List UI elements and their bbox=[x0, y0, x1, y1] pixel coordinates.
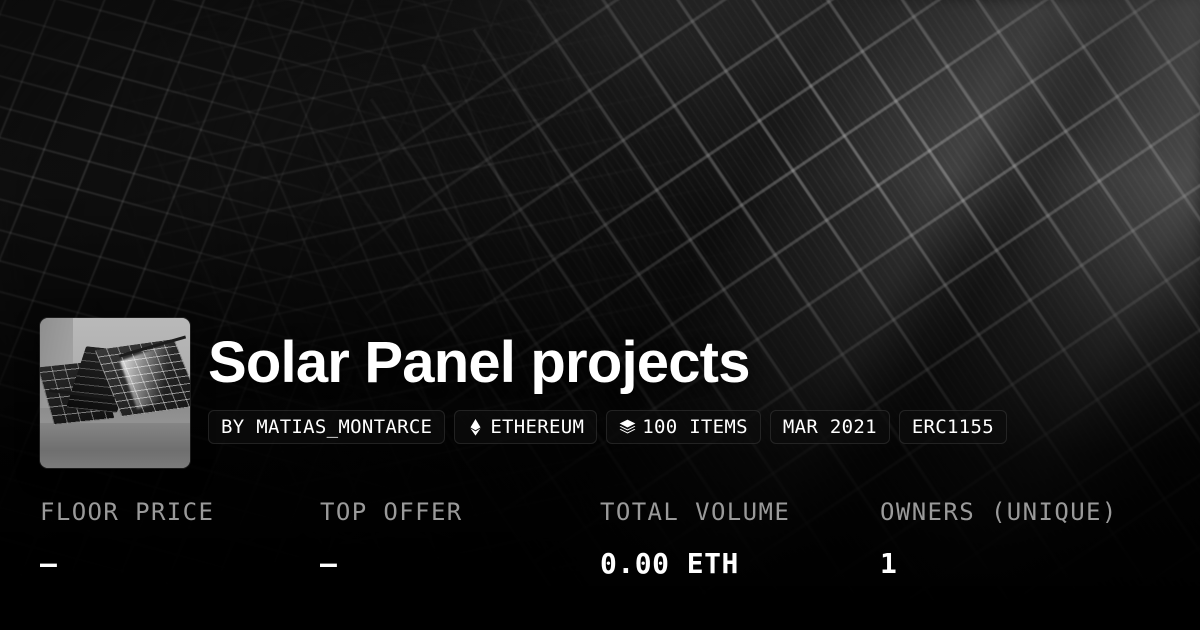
stat-floor-price-value: – bbox=[40, 550, 320, 578]
stat-top-offer-label: TOP OFFER bbox=[320, 500, 600, 524]
created-date-badge-label: MAR 2021 bbox=[783, 418, 877, 437]
stat-top-offer-value: – bbox=[320, 550, 600, 578]
stat-owners-unique-value: 1 bbox=[880, 550, 1160, 578]
collection-badges: BY MATIAS_MONTARCE ETHEREUM bbox=[208, 410, 1007, 444]
items-badge-label: 100 ITEMS bbox=[642, 418, 748, 437]
card-content: Solar Panel projects BY MATIAS_MONTARCE … bbox=[0, 0, 1200, 630]
stat-top-offer: TOP OFFER – bbox=[320, 500, 600, 578]
token-standard-badge-label: ERC1155 bbox=[912, 418, 994, 437]
creator-badge[interactable]: BY MATIAS_MONTARCE bbox=[208, 410, 445, 444]
ethereum-icon bbox=[467, 419, 484, 436]
collection-meta: Solar Panel projects BY MATIAS_MONTARCE … bbox=[208, 318, 1007, 444]
avatar-grayscale-layer bbox=[40, 318, 190, 468]
chain-badge-label: ETHEREUM bbox=[490, 418, 584, 437]
layers-icon bbox=[619, 419, 636, 436]
creator-badge-label: BY MATIAS_MONTARCE bbox=[221, 418, 432, 437]
stat-floor-price: FLOOR PRICE – bbox=[40, 500, 320, 578]
collection-identity: Solar Panel projects BY MATIAS_MONTARCE … bbox=[40, 318, 1007, 468]
items-badge[interactable]: 100 ITEMS bbox=[606, 410, 761, 444]
avatar-artwork bbox=[40, 318, 190, 468]
stat-total-volume-value: 0.00 ETH bbox=[600, 550, 880, 578]
stat-total-volume-label: TOTAL VOLUME bbox=[600, 500, 880, 524]
stat-total-volume: TOTAL VOLUME 0.00 ETH bbox=[600, 500, 880, 578]
collection-og-card: Solar Panel projects BY MATIAS_MONTARCE … bbox=[0, 0, 1200, 630]
stat-owners-unique: OWNERS (UNIQUE) 1 bbox=[880, 500, 1160, 578]
created-date-badge[interactable]: MAR 2021 bbox=[770, 410, 890, 444]
collection-title: Solar Panel projects bbox=[208, 334, 1007, 392]
collection-avatar[interactable] bbox=[40, 318, 190, 468]
stat-floor-price-label: FLOOR PRICE bbox=[40, 500, 320, 524]
stat-owners-unique-label: OWNERS (UNIQUE) bbox=[880, 500, 1160, 524]
token-standard-badge[interactable]: ERC1155 bbox=[899, 410, 1007, 444]
avatar-floor bbox=[40, 423, 190, 468]
collection-stats: FLOOR PRICE – TOP OFFER – TOTAL VOLUME 0… bbox=[40, 500, 1160, 578]
chain-badge[interactable]: ETHEREUM bbox=[454, 410, 597, 444]
